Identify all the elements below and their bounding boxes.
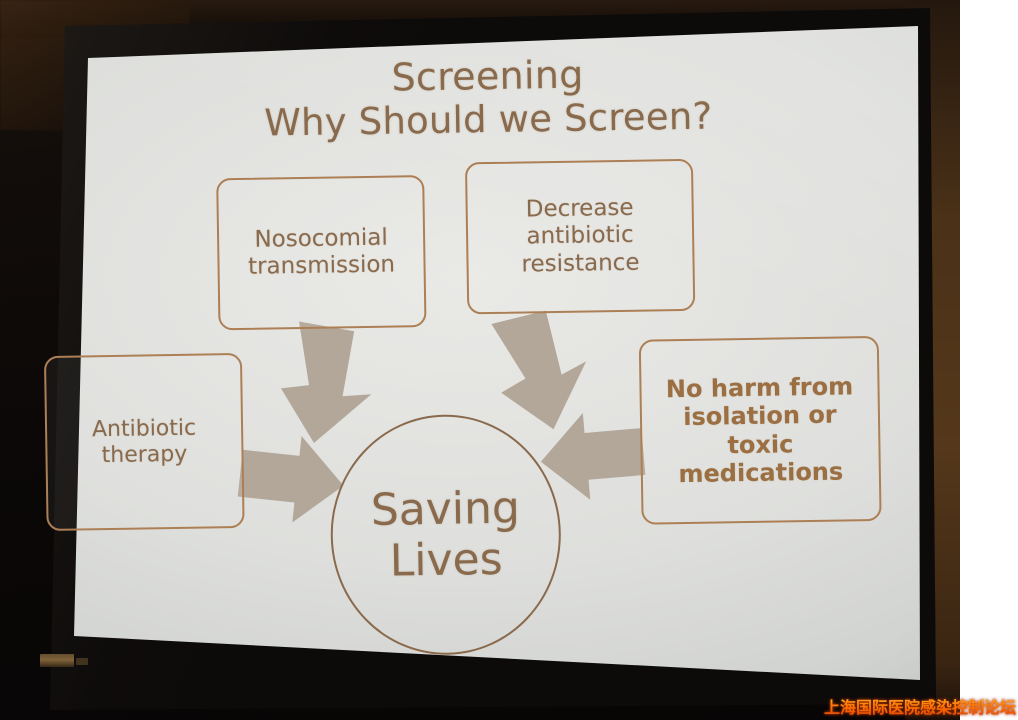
node-no-harm-from-isolation[interactable]: No harm from isolation or toxic medicati… [639, 336, 882, 525]
node-decrease-label: Decrease antibiotic resistance [521, 195, 640, 278]
bezel-brand-badge-secondary [76, 658, 88, 665]
arrow-nosocomial-to-center [271, 319, 384, 453]
projected-slide-photo: Screening Why Should we Screen? Nosocomi… [0, 0, 1018, 720]
slide-content: Screening Why Should we Screen? Nosocomi… [47, 15, 937, 699]
bezel-brand-badge [40, 654, 74, 667]
node-antibiotic-label: Antibiotic therapy [92, 415, 197, 469]
node-nosocomial-label: Nosocomial transmission [247, 224, 395, 281]
forum-watermark: 上海国际医院感染控制论坛 [824, 694, 1016, 718]
slide-title: Screening Why Should we Screen? [47, 49, 928, 146]
overexposed-right-strip [960, 0, 1018, 720]
node-nosocomial-transmission[interactable]: Nosocomial transmission [216, 175, 426, 330]
arrow-decrease-to-center [484, 304, 600, 440]
title-line-2: Why Should we Screen? [48, 93, 929, 146]
node-noharm-label: No harm from isolation or toxic medicati… [666, 372, 855, 488]
node-decrease-antibiotic-resistance[interactable]: Decrease antibiotic resistance [465, 159, 695, 315]
node-antibiotic-therapy[interactable]: Antibiotic therapy [44, 353, 245, 531]
center-node-saving-lives[interactable]: Saving Lives [329, 413, 563, 657]
arrow-noharm-to-center [537, 408, 647, 504]
center-node-label: Saving Lives [370, 483, 521, 587]
